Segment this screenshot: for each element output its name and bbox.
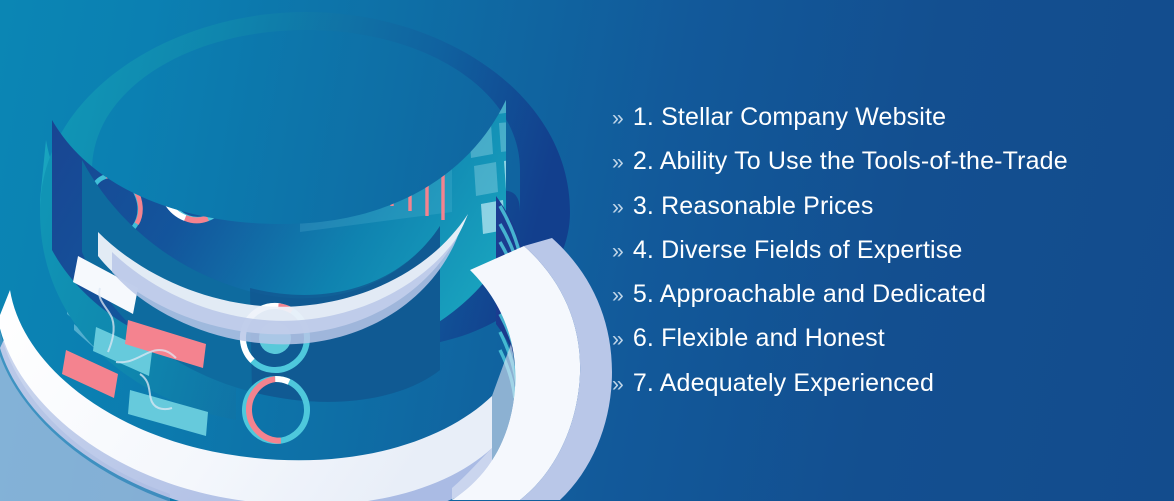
list-item[interactable]: » 1. Stellar Company Website <box>612 96 1172 140</box>
chevron-double-right-icon: » <box>612 275 624 317</box>
chevron-double-right-icon: » <box>612 98 624 140</box>
bar-chart-panel <box>300 112 452 232</box>
isometric-data-cylinder-illustration <box>0 0 640 501</box>
chevron-double-right-icon: » <box>612 231 624 273</box>
list-item[interactable]: » 7. Adequately Experienced <box>612 362 1172 406</box>
chevron-double-right-icon: » <box>612 319 624 361</box>
list-item[interactable]: » 4. Diverse Fields of Expertise <box>612 229 1172 273</box>
donut-center-fill <box>175 159 217 205</box>
list-item-label: 5. Approachable and Dedicated <box>633 273 986 315</box>
list-item[interactable]: » 2. Ability To Use the Tools-of-the-Tra… <box>612 140 1172 184</box>
chevron-double-right-icon: » <box>612 187 624 229</box>
list-item[interactable]: » 6. Flexible and Honest <box>612 317 1172 361</box>
list-item[interactable]: » 3. Reasonable Prices <box>612 185 1172 229</box>
list-item-label: 1. Stellar Company Website <box>633 96 946 138</box>
list-item-label: 3. Reasonable Prices <box>633 185 874 227</box>
feature-list: » 1. Stellar Company Website » 2. Abilit… <box>612 96 1172 406</box>
text-block-lines <box>243 28 325 76</box>
chevron-double-right-icon: » <box>612 142 624 184</box>
list-item-label: 6. Flexible and Honest <box>633 317 885 359</box>
slide-canvas: » 1. Stellar Company Website » 2. Abilit… <box>0 0 1174 501</box>
list-item-label: 4. Diverse Fields of Expertise <box>633 229 963 271</box>
chevron-double-right-icon: » <box>612 364 624 406</box>
list-item-label: 2. Ability To Use the Tools-of-the-Trade <box>633 140 1068 182</box>
list-item[interactable]: » 5. Approachable and Dedicated <box>612 273 1172 317</box>
list-item-label: 7. Adequately Experienced <box>633 362 934 404</box>
widget-chip-1 <box>292 56 323 72</box>
